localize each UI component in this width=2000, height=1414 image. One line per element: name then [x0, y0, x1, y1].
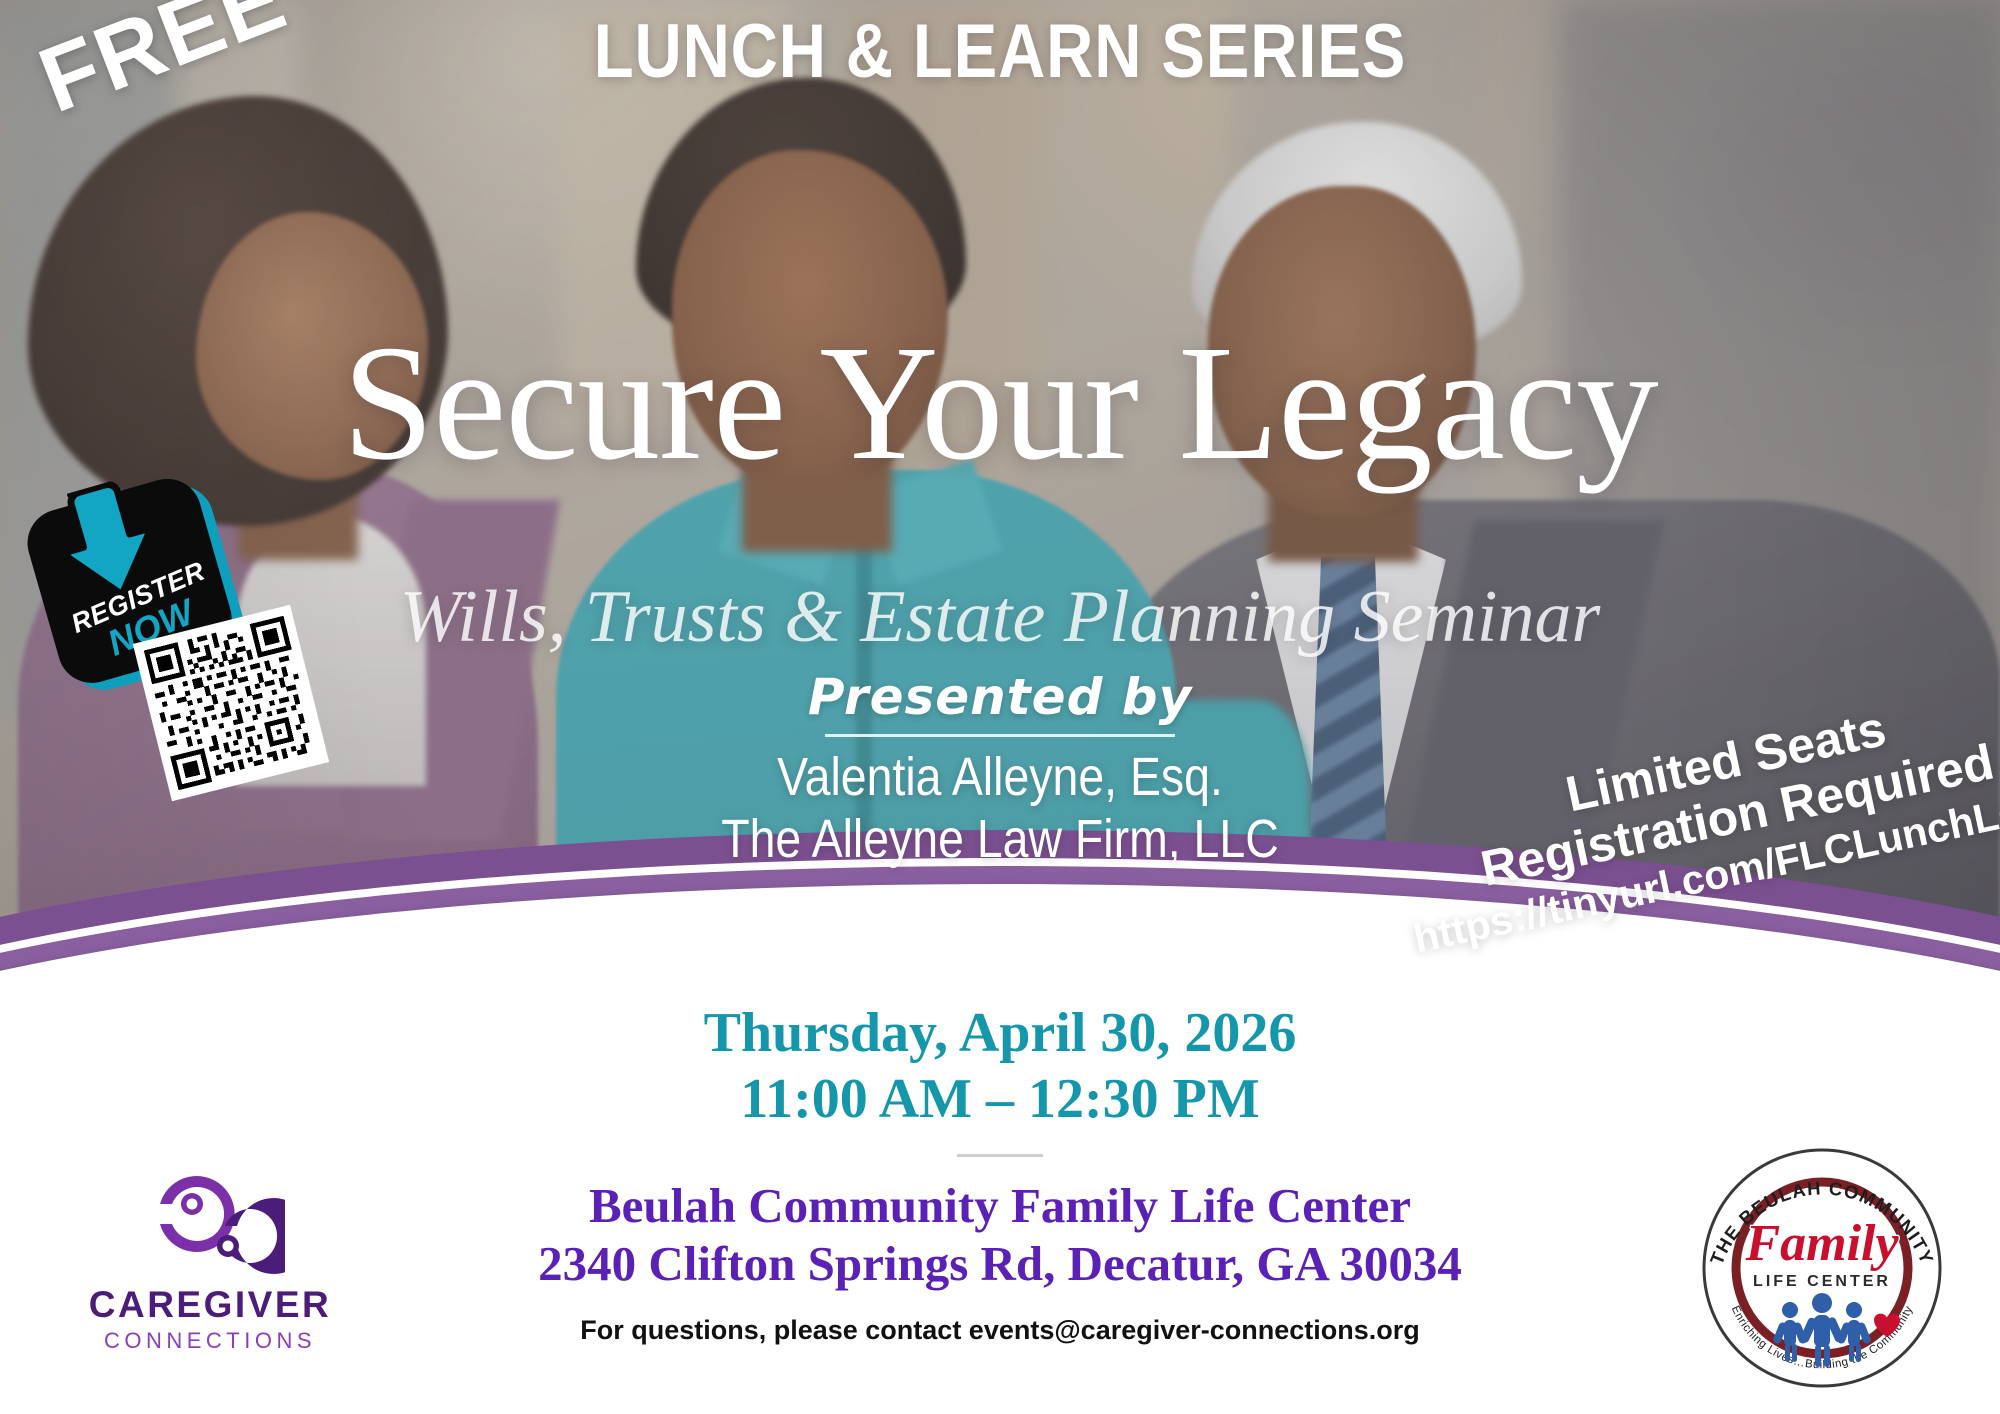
page-subtitle: Wills, Trusts & Estate Planning Seminar — [0, 580, 2000, 654]
details-divider — [957, 1154, 1043, 1157]
content-layer: FREE LUNCH & LEARN SERIES Secure Your Le… — [0, 0, 2000, 1414]
logo-subtitle: CONNECTIONS — [60, 1330, 360, 1352]
series-header: LUNCH & LEARN SERIES — [140, 8, 1860, 95]
beulah-seal-icon: THE BEULAH COMMUNITY Enriching Lives…Bui… — [1692, 1140, 1952, 1390]
caregiver-connections-logo: CAREGIVER CONNECTIONS — [60, 1172, 360, 1352]
interlocking-circles-icon — [135, 1172, 285, 1280]
logo-word-family: Family — [1744, 1215, 1899, 1272]
presenter-divider — [825, 734, 1175, 737]
page-title: Secure Your Legacy — [0, 320, 2000, 485]
beulah-flc-logo: THE BEULAH COMMUNITY Enriching Lives…Bui… — [1692, 1140, 1952, 1390]
event-flyer: FREE LUNCH & LEARN SERIES Secure Your Le… — [0, 0, 2000, 1414]
qr-code-icon — [144, 616, 319, 791]
event-date: Thursday, April 30, 2026 — [0, 1000, 2000, 1066]
logo-name: CAREGIVER — [60, 1286, 360, 1323]
event-time: 11:00 AM – 12:30 PM — [0, 1066, 2000, 1132]
logo-word-life-center: LIFE CENTER — [1753, 1273, 1891, 1290]
